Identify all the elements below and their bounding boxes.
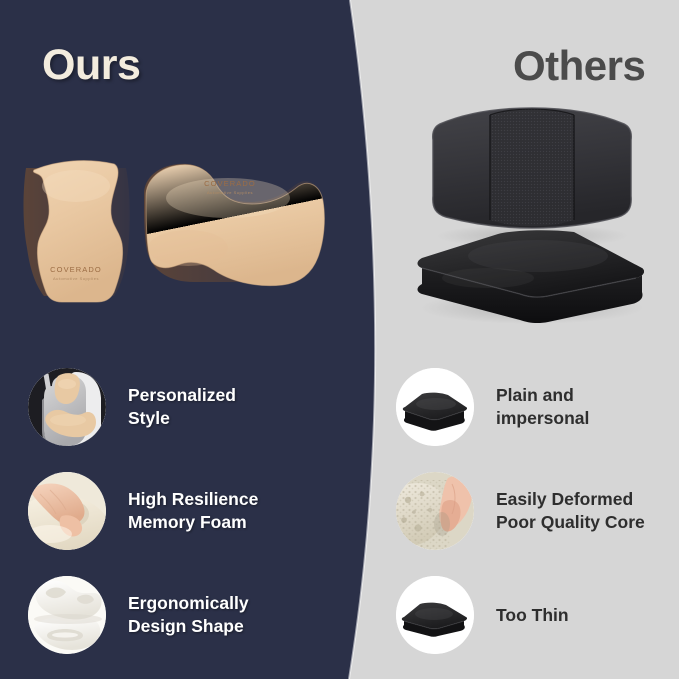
others-feature-easily-deformed-poor-core: Easily Deformed Poor Quality Core [396,472,645,550]
comparison-infographic: Ours Others [0,0,679,679]
ours-feature-high-resilience-memory-foam: High Resilience Memory Foam [28,472,258,550]
ours-feature-personalized-style: Personalized Style [28,368,236,446]
white-ergonomic-foam-icon [28,576,106,654]
brand-tagline-left: Automotive Supplies [53,276,99,281]
others-feature-plain-and-impersonal: Plain and impersonal [396,368,589,446]
feature-label: Plain and impersonal [496,384,589,430]
hand-pressing-cream-foam-icon [28,472,106,550]
others-product-image [398,96,666,328]
hand-pressing-crumbly-foam-icon [396,472,474,550]
feature-label: Ergonomically Design Shape [128,592,249,638]
others-feature-too-thin: Too Thin [396,576,569,654]
feature-label: Easily Deformed Poor Quality Core [496,488,645,534]
black-flat-cushion-icon [396,368,474,446]
brand-name-right: COVERADO [204,179,256,188]
page-title-others: Others [513,42,645,90]
thin-black-cushion-icon [396,576,474,654]
feature-label: Personalized Style [128,384,236,430]
feature-label: High Resilience Memory Foam [128,488,258,534]
ours-product-image: COVERADO Automotive Supplies COVERADO Au… [18,152,328,312]
feature-label: Too Thin [496,604,569,627]
brand-tagline-right: Automotive Supplies [207,190,253,195]
ours-feature-ergonomic-design-shape: Ergonomically Design Shape [28,576,249,654]
car-seat-with-cushions-icon [28,368,106,446]
brand-name-left: COVERADO [50,265,102,274]
page-title-ours: Ours [42,41,140,90]
